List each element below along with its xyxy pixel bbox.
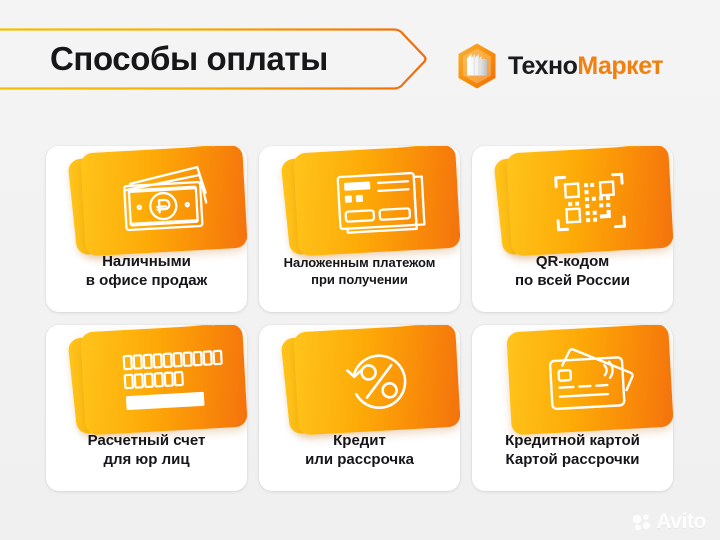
avito-watermark: Avito [632,511,706,532]
caption-line-1: Наложенным платежом [265,254,454,271]
payment-methods-grid: Наличными в офисе продаж [46,146,674,491]
caption-line-1: Наличными [52,252,241,271]
tile-front-layer [506,146,673,256]
banknotes-ruble-icon [80,146,247,256]
payment-card-cash[interactable]: Наличными в офисе продаж [46,146,247,312]
qr-code-icon [506,146,673,256]
card-caption: Наложенным платежом при получении [265,254,454,288]
credit-cards-contactless-icon [506,325,673,435]
brand-name-dark: Техно [508,52,577,80]
percent-refresh-icon [293,325,460,435]
postal-form-icon [293,146,460,256]
caption-line-2: или рассрочка [265,450,454,469]
tile-front-layer [293,325,460,435]
account-number-boxes-icon [80,325,247,435]
avito-watermark-label: Avito [656,511,706,532]
card-tile [259,325,460,437]
caption-line-1: Кредит [265,431,454,450]
caption-line-1: Расчетный счет [52,431,241,450]
payment-card-qr[interactable]: QR-кодом по всей России [472,146,673,312]
brand-name-orange: Маркет [577,52,663,80]
card-caption: Наличными в офисе продаж [52,252,241,290]
page-header: Способы оплаты [0,0,720,118]
card-caption: QR-кодом по всей России [478,252,667,290]
caption-line-2: Картой рассрочки [478,450,667,469]
card-caption: Кредитной картой Картой рассрочки [478,431,667,469]
tile-front-layer [80,146,247,256]
card-tile [472,325,673,437]
payment-card-credit[interactable]: Кредит или рассрочка [259,325,460,491]
tile-front-layer [506,325,673,435]
tile-front-layer [80,325,247,435]
payment-card-credit-card[interactable]: Кредитной картой Картой рассрочки [472,325,673,491]
caption-line-2: при получении [265,271,454,288]
caption-line-2: по всей России [478,271,667,290]
card-tile [46,146,247,258]
payment-card-bank-account[interactable]: Расчетный счет для юр лиц [46,325,247,491]
card-tile [472,146,673,258]
card-tile [259,146,460,258]
card-caption: Расчетный счет для юр лиц [52,431,241,469]
caption-line-2: для юр лиц [52,450,241,469]
caption-line-2: в офисе продаж [52,271,241,290]
payment-methods-page: Способы оплаты [0,0,720,540]
brand-logo[interactable]: ТехноМаркет [455,42,663,90]
caption-line-1: Кредитной картой [478,431,667,450]
caption-line-1: QR-кодом [478,252,667,271]
payment-card-cash-on-delivery[interactable]: Наложенным платежом при получении [259,146,460,312]
card-tile [46,325,247,437]
tile-front-layer [293,146,460,256]
avito-dots-icon [632,512,652,532]
card-caption: Кредит или рассрочка [265,431,454,469]
hexagon-logo-icon [455,42,499,90]
brand-name: ТехноМаркет [508,52,663,80]
page-title: Способы оплаты [50,39,328,79]
